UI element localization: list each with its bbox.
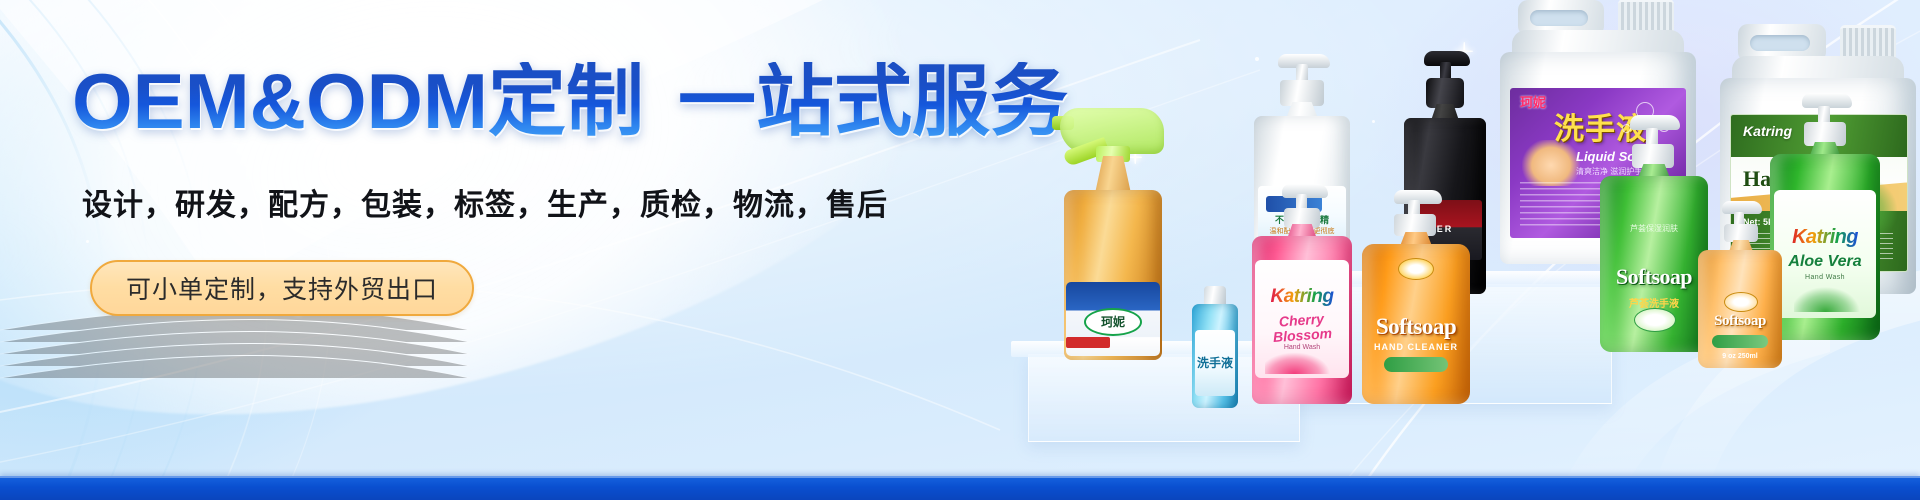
label-brand: Softsoap: [1604, 264, 1704, 290]
label-size: 9 oz 250ml: [1700, 353, 1780, 360]
product-trigger-spray-bottle[interactable]: 珂妮: [1058, 110, 1168, 360]
product-blue-hand-sanitizer[interactable]: 洗手液: [1192, 282, 1238, 408]
product-label: Katring Cherry Blossom Hand Wash: [1255, 260, 1349, 378]
label-subtitle: HAND CLEANER: [1368, 342, 1464, 352]
page-title: OEM&ODM定制一站式服务: [72, 62, 1072, 140]
product-softsoap-orange[interactable]: Softsoap HAND CLEANER: [1362, 190, 1470, 404]
label-seal-icon: [1634, 308, 1676, 332]
label-title-cn: 洗手液: [1197, 357, 1233, 370]
label-brand-badge: 珂妮: [1084, 308, 1142, 336]
label-brand: Katring: [1271, 287, 1334, 307]
product-showcase: Katring Hand Soap Net: 5kg 珂妮 洗手液 Liquid…: [980, 0, 1920, 500]
label-brand: Katring: [1792, 227, 1858, 248]
pump-collar: [1426, 78, 1464, 108]
label-brand: 珂妮: [1520, 96, 1546, 110]
banner-copy: OEM&ODM定制一站式服务 设计，研发，配方，包装，标签，生产，质检，物流，售…: [72, 62, 1072, 316]
bottom-accent-bar: [0, 476, 1920, 500]
product-softsoap-green-aloe[interactable]: 芦荟保湿润肤 Softsoap 芦荟洗手液: [1600, 118, 1708, 352]
headline-part-1: OEM&ODM定制: [72, 57, 644, 145]
product-katring-cherry-blossom[interactable]: Katring Cherry Blossom Hand Wash: [1252, 186, 1352, 404]
label-green-band: [1712, 335, 1768, 348]
label-brand: Softsoap: [1368, 314, 1464, 340]
label-flavor: Aloe Vera: [1788, 254, 1861, 271]
label-seal-icon: [1398, 258, 1434, 280]
label-flavor: Cherry Blossom: [1255, 309, 1349, 345]
label-green-band: [1384, 357, 1448, 372]
product-label: Katring Aloe Vera Hand Wash: [1774, 190, 1876, 318]
label-brand: Softsoap: [1700, 313, 1780, 330]
pump-collar: [1724, 224, 1758, 242]
label-red-tag: [1066, 337, 1110, 348]
label-seal-icon: [1724, 292, 1758, 312]
hands-illustration: [1522, 140, 1580, 186]
handle-hole: [1750, 35, 1810, 51]
service-list-subtitle: 设计，研发，配方，包装，标签，生产，质检，物流，售后: [82, 180, 1072, 224]
promo-banner: OEM&ODM定制一站式服务 设计，研发，配方，包装，标签，生产，质检，物流，售…: [0, 0, 1920, 500]
label-topline-cn: 芦荟保湿润肤: [1604, 223, 1704, 234]
splash-illustration: [1265, 344, 1339, 374]
product-katring-aloe-vera[interactable]: Katring Aloe Vera Hand Wash: [1770, 90, 1880, 340]
aloe-leaf-icon: [1794, 278, 1864, 312]
product-softsoap-peach-small[interactable]: Softsoap 9 oz 250ml: [1698, 198, 1782, 368]
product-label: 洗手液: [1195, 330, 1235, 396]
handle-hole: [1530, 10, 1588, 26]
custom-order-badge[interactable]: 可小单定制，支持外贸出口: [90, 260, 474, 316]
bar-highlight: [0, 476, 1920, 478]
